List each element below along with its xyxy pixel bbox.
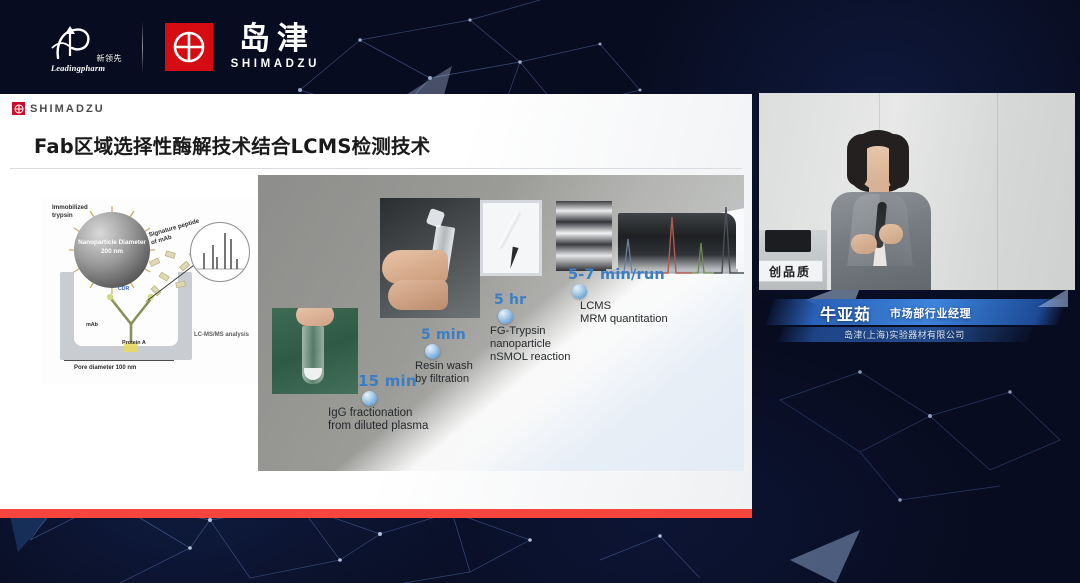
photo-igg-fractionation: [272, 308, 358, 394]
workflow-step-3: 5 hr FG-Trypsin nanoparticle nSMOL react…: [494, 292, 570, 364]
nanoparticle-label: Nanoparticle Diameter 200 nm: [74, 238, 150, 257]
pore-measure-line: [64, 360, 174, 361]
cdr-label: CDR: [118, 286, 129, 292]
workflow-step-4: 5-7 min/run LCMS MRM quantitation: [568, 267, 668, 326]
presentation-slide: SHIMADZU Fab区域选择性酶解技术结合LCMS检测技术: [0, 94, 752, 518]
podium-banner-text: 创品质: [769, 263, 811, 280]
step-3-time: 5 hr: [494, 292, 570, 308]
step-4-dot-icon: [572, 284, 587, 299]
lcmsms-spectrum-plot: [190, 222, 250, 282]
slide-accent-bar: [0, 509, 752, 518]
workflow-montage: 15 min IgG fractionation from diluted pl…: [258, 175, 744, 471]
photo-filtration: [480, 200, 542, 276]
step-1-desc: IgG fractionation from diluted plasma: [328, 407, 428, 434]
step-4-desc: LCMS MRM quantitation: [580, 300, 668, 326]
shimadzu-mark-icon: [165, 23, 213, 71]
slide-shimadzu-mark-icon: [12, 102, 25, 115]
shimadzu-cn-label: 岛津: [232, 24, 315, 55]
speaker-figure: [821, 130, 941, 290]
protein-a-label: Protein A: [122, 340, 146, 346]
shimadzu-en-label: SHIMADZU: [227, 59, 320, 71]
leadingpharm-en-label: Leadingpharm: [51, 63, 105, 73]
nsmol-principle-diagram: Nanoparticle Diameter 200 nm Immobilized…: [42, 198, 258, 384]
slide-shimadzu-logo: SHIMADZU: [12, 102, 105, 115]
header-logo-bar: 新领先 Leadingpharm 岛津 SHIMADZU: [0, 0, 760, 94]
workflow-step-2: 5 min Resin wash by filtration: [421, 327, 473, 386]
photo-resin-wash: [380, 198, 480, 318]
podium-banner: 创品质: [757, 260, 823, 282]
speaker-nameplate: 牛亚茹 市场部行业经理 岛津(上海)实验器材有限公司: [762, 297, 1070, 359]
lcmsms-analysis-label: LC-MS/MS analysis: [194, 332, 249, 338]
speaker-video-feed[interactable]: 创品质: [757, 93, 1075, 290]
leadingpharm-cn-label: 新领先: [97, 53, 123, 64]
step-2-desc: Resin wash by filtration: [415, 360, 473, 386]
step-4-time: 5-7 min/run: [568, 267, 668, 283]
nameplate-accent-triangle: [1038, 289, 1068, 307]
slide-title-rule: [10, 168, 742, 169]
shimadzu-logo: 岛津 SHIMADZU: [165, 23, 320, 71]
step-2-time: 5 min: [421, 327, 473, 343]
step-1-dot-icon: [362, 391, 377, 406]
logo-divider: [142, 21, 143, 73]
video-monitor: [765, 230, 811, 252]
speaker-organization: 岛津(上海)实验器材有限公司: [844, 328, 965, 341]
slide-title: Fab区域选择性酶解技术结合LCMS检测技术: [34, 130, 430, 159]
step-3-desc: FG-Trypsin nanoparticle nSMOL reaction: [490, 325, 570, 364]
immobilized-trypsin-label: Immobilized trypsin: [52, 204, 88, 220]
pore-diameter-label: Pore diameter 100 nm: [74, 365, 136, 371]
slide-shimadzu-wordmark: SHIMADZU: [30, 103, 105, 115]
step-2-dot-icon: [425, 344, 440, 359]
leadingpharm-logo: 新领先 Leadingpharm: [32, 16, 124, 78]
speaker-role: 市场部行业经理: [890, 305, 971, 321]
mab-label: mAb: [86, 322, 98, 328]
nanoparticle-sphere: Nanoparticle Diameter 200 nm: [74, 212, 150, 288]
broadcast-screen: 新领先 Leadingpharm 岛津 SHIMADZU: [0, 0, 1080, 583]
speaker-name: 牛亚茹: [820, 301, 871, 325]
step-3-dot-icon: [498, 309, 513, 324]
